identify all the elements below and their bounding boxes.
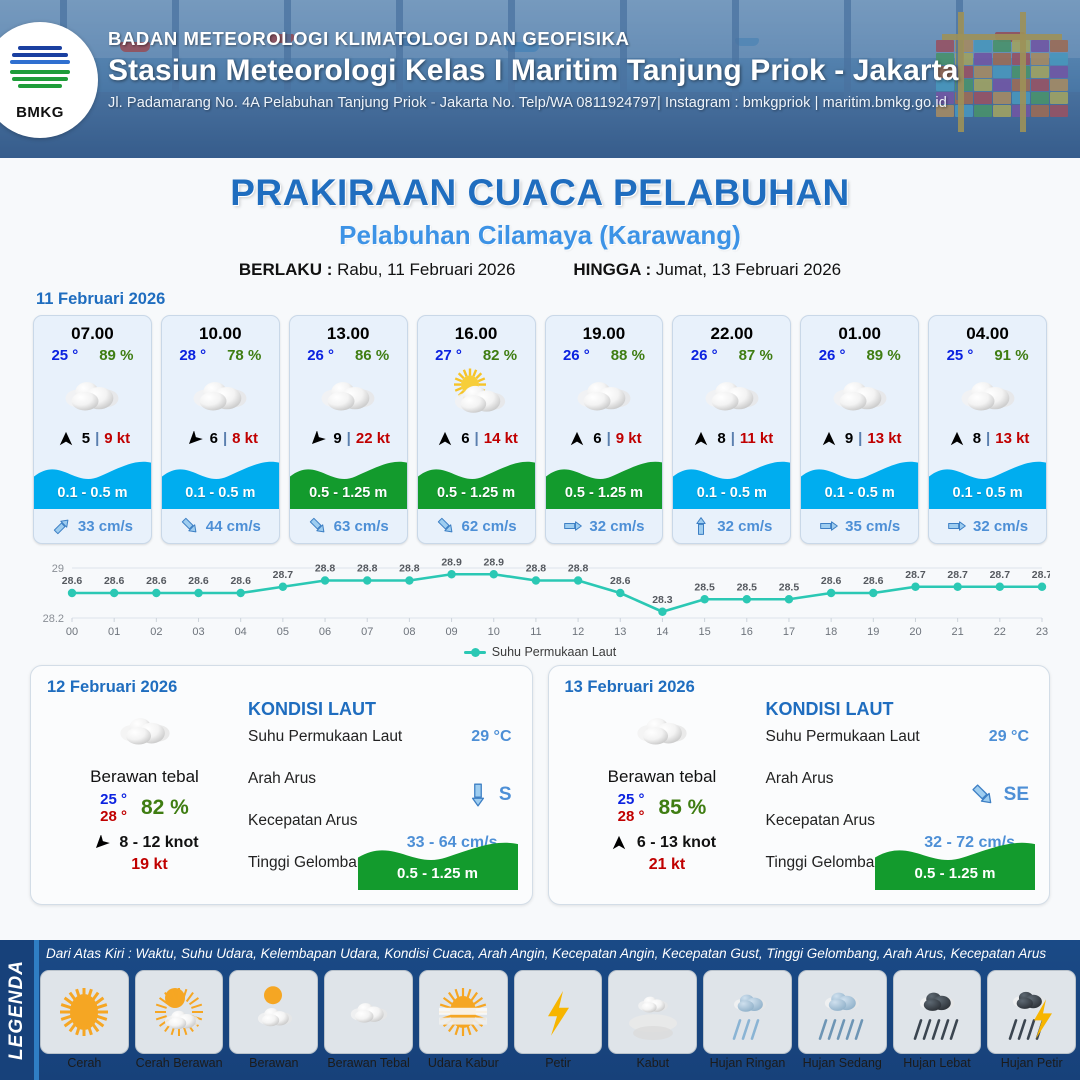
hingga-value: Jumat, 13 Februari 2026	[656, 260, 841, 279]
current-direction-icon	[465, 782, 491, 808]
summary-wave-graphic: 0.5 - 1.25 m	[358, 834, 518, 890]
daily-summary-card: 12 Februari 2026 Berawan tebal 25 ° 28 °…	[30, 665, 533, 905]
card-weather-icon	[162, 364, 279, 426]
berlaku-value: Rabu, 11 Februari 2026	[337, 260, 515, 279]
svg-text:12: 12	[572, 626, 584, 638]
card-current-speed: 33 cm/s	[78, 518, 133, 535]
summary-temp-max: 28 °	[100, 808, 127, 825]
current-direction-label: Arah Arus	[248, 770, 316, 788]
cloud-icon	[563, 366, 645, 424]
bmkg-logo-text: BMKG	[16, 104, 64, 121]
sst-row: Suhu Permukaan Laut 29 °C	[248, 724, 516, 766]
svg-text:28.5: 28.5	[694, 581, 715, 593]
card-gust: 22 kt	[356, 430, 390, 447]
card-time: 16.00	[418, 316, 535, 344]
card-current-speed: 32 cm/s	[717, 518, 772, 535]
sst-label: Suhu Permukaan Laut	[248, 728, 402, 746]
card-gust: 8 kt	[232, 430, 258, 447]
card-temp-hum: 25 ° 89 %	[34, 344, 151, 364]
card-weather-icon	[801, 364, 918, 426]
card-wind-separator: |	[347, 430, 351, 447]
card-time: 13.00	[290, 316, 407, 344]
card-wave-label: 0.1 - 0.5 m	[34, 485, 151, 501]
card-wind: 9 | 22 kt	[290, 426, 407, 453]
card-temp-hum: 26 ° 87 %	[673, 344, 790, 364]
svg-text:16: 16	[741, 626, 753, 638]
sst-value: 29 °C	[989, 728, 1029, 746]
wind-direction-icon	[946, 431, 968, 447]
card-wave: 0.5 - 1.25 m	[290, 453, 407, 509]
summary-date: 13 Februari 2026	[565, 678, 1034, 697]
card-temperature: 26 °	[563, 347, 590, 364]
card-wave-label: 0.5 - 1.25 m	[290, 485, 407, 501]
cloud-icon	[106, 703, 184, 757]
legend-item-label: Hujan Petir	[987, 1056, 1076, 1070]
legend-item	[135, 970, 224, 1054]
card-humidity: 78 %	[227, 347, 261, 364]
legend-item-label: Hujan Sedang	[798, 1056, 887, 1070]
card-current: 44 cm/s	[162, 509, 279, 543]
chart-legend: Suhu Permukaan Laut	[0, 645, 1080, 659]
summary-humidity: 82 %	[141, 796, 189, 820]
wind-direction-icon	[434, 431, 456, 447]
card-wave: 0.1 - 0.5 m	[34, 453, 151, 509]
current-direction-icon	[308, 516, 328, 536]
current-direction-icon	[947, 516, 967, 536]
cloud-icon	[51, 366, 133, 424]
legend-item	[703, 970, 792, 1054]
svg-text:28.6: 28.6	[188, 575, 209, 587]
card-humidity: 91 %	[994, 347, 1028, 364]
svg-text:28.6: 28.6	[610, 575, 631, 587]
current-direction-icon	[691, 516, 711, 536]
light-rain-icon	[717, 977, 779, 1047]
card-current-speed: 44 cm/s	[206, 518, 261, 535]
wind-direction-icon	[306, 431, 328, 447]
card-wave-label: 0.1 - 0.5 m	[673, 485, 790, 501]
wave-label: Tinggi Gelombang	[248, 854, 374, 872]
sun-cloud-icon	[435, 366, 517, 424]
fog-icon	[622, 977, 684, 1047]
svg-text:28.7: 28.7	[1032, 569, 1050, 581]
card-current: 32 cm/s	[929, 509, 1046, 543]
card-time: 01.00	[801, 316, 918, 344]
svg-text:28.7: 28.7	[947, 569, 968, 581]
card-wind-separator: |	[223, 430, 227, 447]
sun-cloud-icon	[148, 977, 210, 1047]
card-time: 22.00	[673, 316, 790, 344]
cloud-icon	[819, 366, 901, 424]
card-gust: 13 kt	[867, 430, 901, 447]
legend-item	[987, 970, 1076, 1054]
svg-text:08: 08	[403, 626, 415, 638]
card-temp-hum: 25 ° 91 %	[929, 344, 1046, 364]
card-wind: 8 | 13 kt	[929, 426, 1046, 453]
cloud-icon	[947, 366, 1029, 424]
heavy-rain-icon	[906, 977, 968, 1047]
card-current: 32 cm/s	[546, 509, 663, 543]
card-time: 10.00	[162, 316, 279, 344]
card-temperature: 27 °	[435, 347, 462, 364]
card-current: 32 cm/s	[673, 509, 790, 543]
wind-direction-icon	[566, 431, 588, 447]
svg-text:18: 18	[825, 626, 837, 638]
current-direction-icon	[563, 516, 583, 536]
card-wind-speed: 9	[333, 430, 341, 447]
legend-item	[40, 970, 129, 1054]
card-current-speed: 32 cm/s	[589, 518, 644, 535]
svg-text:15: 15	[698, 626, 710, 638]
svg-text:28.6: 28.6	[104, 575, 125, 587]
current-direction-label: Arah Arus	[766, 770, 834, 788]
card-wind-speed: 8	[717, 430, 725, 447]
legend-item	[893, 970, 982, 1054]
svg-text:28.3: 28.3	[652, 594, 673, 606]
sea-heading: KONDISI LAUT	[766, 699, 1034, 720]
legend-item-label: Hujan Lebat	[893, 1056, 982, 1070]
card-wind-separator: |	[475, 430, 479, 447]
station-name: Stasiun Meteorologi Kelas I Maritim Tanj…	[108, 54, 1068, 88]
legend-side-title-text: LEGENDA	[6, 960, 28, 1060]
card-gust: 13 kt	[995, 430, 1029, 447]
current-direction-icon	[819, 516, 839, 536]
sea-heading: KONDISI LAUT	[248, 699, 516, 720]
cloud-icon	[179, 366, 261, 424]
cloud-icon	[338, 977, 400, 1047]
current-direction-icon	[970, 782, 996, 808]
legend-item-label: Cerah Berawan	[135, 1056, 224, 1070]
forecast-card: 07.00 25 ° 89 % 5 | 9 kt 0.1 - 0.5 m	[33, 315, 152, 544]
svg-text:04: 04	[235, 626, 247, 638]
current-direction-row: Arah Arus S	[248, 766, 516, 808]
current-direction-row: Arah Arus SE	[766, 766, 1034, 808]
svg-text:28.9: 28.9	[441, 556, 462, 568]
svg-text:28.6: 28.6	[62, 575, 83, 587]
wind-direction-icon	[690, 431, 712, 447]
legend-label-row: CerahCerah BerawanBerawanBerawan TebalUd…	[40, 1056, 1076, 1070]
card-current: 33 cm/s	[34, 509, 151, 543]
forecast-card: 19.00 26 ° 88 % 6 | 9 kt 0.5 - 1.25 m	[545, 315, 664, 544]
card-wave-label: 0.5 - 1.25 m	[546, 485, 663, 501]
svg-text:11: 11	[530, 626, 541, 638]
card-wind: 8 | 11 kt	[673, 426, 790, 453]
card-weather-icon	[673, 364, 790, 426]
wind-direction-icon	[608, 835, 630, 851]
card-wave: 0.1 - 0.5 m	[162, 453, 279, 509]
moderate-rain-icon	[811, 977, 873, 1047]
card-current-speed: 32 cm/s	[973, 518, 1028, 535]
berlaku-group: BERLAKU : Rabu, 11 Februari 2026	[239, 260, 516, 280]
cloud-icon	[691, 366, 773, 424]
svg-text:28.7: 28.7	[273, 569, 294, 581]
legend-bar: LEGENDA Dari Atas Kiri : Waktu, Suhu Uda…	[0, 940, 1080, 1080]
card-temp-hum: 26 ° 88 %	[546, 344, 663, 364]
legend-item-label: Hujan Ringan	[703, 1056, 792, 1070]
legend-item	[229, 970, 318, 1054]
card-temperature: 26 °	[691, 347, 718, 364]
legend-accent-stripe	[34, 940, 39, 1080]
legend-item-label: Udara Kabur	[419, 1056, 508, 1070]
svg-text:28.6: 28.6	[230, 575, 251, 587]
svg-text:28.6: 28.6	[146, 575, 167, 587]
card-humidity: 88 %	[611, 347, 645, 364]
card-wave: 0.1 - 0.5 m	[801, 453, 918, 509]
card-wind-separator: |	[858, 430, 862, 447]
legend-item-label: Petir	[514, 1056, 603, 1070]
card-temp-hum: 26 ° 86 %	[290, 344, 407, 364]
agency-name: BADAN METEOROLOGI KLIMATOLOGI DAN GEOFIS…	[108, 28, 1068, 50]
wave-label: Tinggi Gelombang	[766, 854, 892, 872]
svg-text:28.5: 28.5	[779, 581, 800, 593]
card-wind: 6 | 9 kt	[546, 426, 663, 453]
forecast-day-label: 11 Februari 2026	[36, 290, 1080, 309]
card-gust: 14 kt	[484, 430, 518, 447]
sst-value: 29 °C	[471, 728, 511, 746]
card-wave: 0.1 - 0.5 m	[929, 453, 1046, 509]
hingga-group: HINGGA : Jumat, 13 Februari 2026	[573, 260, 841, 280]
card-temp-hum: 26 ° 89 %	[801, 344, 918, 364]
summary-wave-value: 0.5 - 1.25 m	[358, 865, 518, 882]
svg-text:10: 10	[488, 626, 500, 638]
card-temp-hum: 28 ° 78 %	[162, 344, 279, 364]
card-temp-hum: 27 ° 82 %	[418, 344, 535, 364]
svg-text:29: 29	[52, 563, 64, 575]
legend-item	[419, 970, 508, 1054]
card-wind: 9 | 13 kt	[801, 426, 918, 453]
legend-item-label: Cerah	[40, 1056, 129, 1070]
thunderstorm-icon	[1001, 977, 1063, 1047]
bmkg-logo-mark	[9, 40, 71, 102]
card-weather-icon	[290, 364, 407, 426]
header-text-block: BADAN METEOROLOGI KLIMATOLOGI DAN GEOFIS…	[108, 28, 1068, 111]
chart-legend-marker	[464, 651, 486, 654]
summary-temp-hum: 25 ° 28 ° 85 %	[565, 791, 760, 826]
card-wind-speed: 6	[593, 430, 601, 447]
daily-summary-row: 12 Februari 2026 Berawan tebal 25 ° 28 °…	[0, 659, 1080, 905]
legend-item	[514, 970, 603, 1054]
summary-gust: 19 kt	[47, 856, 242, 874]
svg-text:21: 21	[952, 626, 964, 638]
current-direction-value: SE	[1004, 784, 1029, 806]
forecast-card: 13.00 26 ° 86 % 9 | 22 kt 0.5 - 1.25 m	[289, 315, 408, 544]
current-direction-icon	[180, 516, 200, 536]
card-wind: 6 | 14 kt	[418, 426, 535, 453]
card-current: 62 cm/s	[418, 509, 535, 543]
card-time: 07.00	[34, 316, 151, 344]
current-direction-icon	[436, 516, 456, 536]
svg-text:19: 19	[867, 626, 879, 638]
legend-item-label: Kabut	[608, 1056, 697, 1070]
summary-wind-text: 6 - 13 knot	[637, 834, 716, 852]
svg-text:06: 06	[319, 626, 331, 638]
berlaku-label: BERLAKU :	[239, 260, 333, 279]
sst-row: Suhu Permukaan Laut 29 °C	[766, 724, 1034, 766]
summary-condition: Berawan tebal	[47, 767, 242, 787]
daily-summary-card: 13 Februari 2026 Berawan tebal 25 ° 28 °…	[548, 665, 1051, 905]
port-name: Pelabuhan Cilamaya (Karawang)	[0, 220, 1080, 251]
svg-text:28.8: 28.8	[568, 563, 589, 575]
summary-left: Berawan tebal 25 ° 28 ° 85 % 6 - 13 knot	[565, 699, 760, 892]
svg-text:05: 05	[277, 626, 289, 638]
card-current: 63 cm/s	[290, 509, 407, 543]
card-temperature: 25 °	[947, 347, 974, 364]
card-current-speed: 35 cm/s	[845, 518, 900, 535]
svg-text:28.6: 28.6	[821, 575, 842, 587]
legend-icon-row	[40, 970, 1076, 1054]
card-wind-separator: |	[95, 430, 99, 447]
svg-text:17: 17	[783, 626, 795, 638]
legend-item	[324, 970, 413, 1054]
card-humidity: 87 %	[739, 347, 773, 364]
svg-text:23: 23	[1036, 626, 1048, 638]
svg-text:00: 00	[66, 626, 78, 638]
card-weather-icon	[929, 364, 1046, 426]
svg-text:28.7: 28.7	[990, 569, 1011, 581]
cloud-sun-icon	[243, 977, 305, 1047]
svg-text:28.8: 28.8	[357, 563, 378, 575]
sst-label: Suhu Permukaan Laut	[766, 728, 920, 746]
card-current-speed: 63 cm/s	[334, 518, 389, 535]
svg-text:28.5: 28.5	[737, 581, 758, 593]
summary-gust: 21 kt	[565, 856, 760, 874]
summary-temp-max: 28 °	[618, 808, 645, 825]
card-weather-icon	[34, 364, 151, 426]
cloud-icon	[307, 366, 389, 424]
legend-item	[798, 970, 887, 1054]
card-wind-speed: 5	[82, 430, 90, 447]
card-wind-separator: |	[731, 430, 735, 447]
legend-item-label: Berawan	[229, 1056, 318, 1070]
summary-wind: 6 - 13 knot	[565, 834, 760, 852]
wind-direction-icon	[818, 431, 840, 447]
card-humidity: 86 %	[355, 347, 389, 364]
card-time: 04.00	[929, 316, 1046, 344]
card-wind-speed: 8	[973, 430, 981, 447]
svg-text:13: 13	[614, 626, 626, 638]
page-header: BMKG BADAN METEOROLOGI KLIMATOLOGI DAN G…	[0, 0, 1080, 158]
card-weather-icon	[418, 364, 535, 426]
legend-item	[608, 970, 697, 1054]
card-wave-label: 0.1 - 0.5 m	[162, 485, 279, 501]
card-current-speed: 62 cm/s	[462, 518, 517, 535]
summary-date: 12 Februari 2026	[47, 678, 516, 697]
summary-weather-icon	[565, 701, 760, 759]
summary-wave-value: 0.5 - 1.25 m	[875, 865, 1035, 882]
svg-text:28.8: 28.8	[399, 563, 420, 575]
svg-text:09: 09	[445, 626, 457, 638]
summary-wind-text: 8 - 12 knot	[119, 834, 198, 852]
current-speed-label: Kecepatan Arus	[248, 812, 357, 830]
summary-condition: Berawan tebal	[565, 767, 760, 787]
forecast-card: 22.00 26 ° 87 % 8 | 11 kt 0.1 - 0.5 m	[672, 315, 791, 544]
svg-text:28.8: 28.8	[526, 563, 547, 575]
svg-text:07: 07	[361, 626, 373, 638]
sun-icon	[53, 977, 115, 1047]
card-wind-separator: |	[986, 430, 990, 447]
current-direction-value: S	[499, 784, 512, 806]
card-humidity: 82 %	[483, 347, 517, 364]
summary-left: Berawan tebal 25 ° 28 ° 82 % 8 - 12 knot	[47, 699, 242, 892]
svg-text:14: 14	[656, 626, 668, 638]
validity-dates: BERLAKU : Rabu, 11 Februari 2026 HINGGA …	[0, 260, 1080, 280]
svg-text:28.8: 28.8	[315, 563, 336, 575]
card-current: 35 cm/s	[801, 509, 918, 543]
forecast-card: 01.00 26 ° 89 % 9 | 13 kt 0.1 - 0.5 m	[800, 315, 919, 544]
card-temperature: 28 °	[179, 347, 206, 364]
forecast-card: 10.00 28 ° 78 % 6 | 8 kt 0.1 - 0.5 m	[161, 315, 280, 544]
hingga-label: HINGGA :	[573, 260, 651, 279]
chart-legend-label: Suhu Permukaan Laut	[492, 645, 616, 659]
card-temperature: 26 °	[819, 347, 846, 364]
svg-text:28.9: 28.9	[484, 556, 505, 568]
card-humidity: 89 %	[866, 347, 900, 364]
card-temperature: 25 °	[51, 347, 78, 364]
card-wind-speed: 6	[210, 430, 218, 447]
card-wave-label: 0.1 - 0.5 m	[801, 485, 918, 501]
card-gust: 11 kt	[740, 430, 773, 447]
summary-temp-hum: 25 ° 28 ° 82 %	[47, 791, 242, 826]
summary-humidity: 85 %	[658, 796, 706, 820]
card-wave: 0.5 - 1.25 m	[418, 453, 535, 509]
svg-text:02: 02	[150, 626, 162, 638]
cloud-icon	[623, 703, 701, 757]
card-wave-label: 0.1 - 0.5 m	[929, 485, 1046, 501]
summary-weather-icon	[47, 701, 242, 759]
summary-wind: 8 - 12 knot	[47, 834, 242, 852]
hourly-forecast-row: 07.00 25 ° 89 % 5 | 9 kt 0.1 - 0.5 m	[0, 315, 1080, 544]
lightning-icon	[527, 977, 589, 1047]
card-humidity: 89 %	[99, 347, 133, 364]
card-time: 19.00	[546, 316, 663, 344]
title-block: PRAKIRAAN CUACA PELABUHAN Pelabuhan Cila…	[0, 158, 1080, 280]
legend-item-label: Berawan Tebal	[324, 1056, 413, 1070]
current-direction-icon	[52, 516, 72, 536]
card-temperature: 26 °	[307, 347, 334, 364]
summary-wave-graphic: 0.5 - 1.25 m	[875, 834, 1035, 890]
svg-text:28.7: 28.7	[905, 569, 926, 581]
card-wave: 0.1 - 0.5 m	[673, 453, 790, 509]
card-wind: 6 | 8 kt	[162, 426, 279, 453]
card-gust: 9 kt	[616, 430, 642, 447]
card-wave-label: 0.5 - 1.25 m	[418, 485, 535, 501]
contact-line: Jl. Padamarang No. 4A Pelabuhan Tanjung …	[108, 95, 1068, 111]
svg-text:03: 03	[192, 626, 204, 638]
card-wind: 5 | 9 kt	[34, 426, 151, 453]
svg-text:28.2: 28.2	[43, 613, 64, 625]
page-title: PRAKIRAAN CUACA PELABUHAN	[0, 172, 1080, 214]
svg-text:28.6: 28.6	[863, 575, 884, 587]
sst-chart: 2928.20001020304050607080910111213141516…	[30, 552, 1050, 644]
card-wind-speed: 9	[845, 430, 853, 447]
legend-note: Dari Atas Kiri : Waktu, Suhu Udara, Kele…	[46, 946, 1046, 961]
card-gust: 9 kt	[104, 430, 130, 447]
wind-direction-icon	[55, 431, 77, 447]
svg-text:20: 20	[909, 626, 921, 638]
haze-icon	[432, 977, 494, 1047]
summary-temp-min: 25 °	[100, 791, 127, 808]
legend-side-title: LEGENDA	[0, 940, 34, 1080]
forecast-card: 16.00 27 ° 82 % 6 | 14 kt 0.5 - 1.25 m	[417, 315, 536, 544]
wind-direction-icon	[183, 431, 205, 447]
svg-text:01: 01	[108, 626, 120, 638]
card-weather-icon	[546, 364, 663, 426]
summary-temp-min: 25 °	[618, 791, 645, 808]
wind-direction-icon	[90, 835, 112, 851]
card-wind-speed: 6	[461, 430, 469, 447]
current-speed-label: Kecepatan Arus	[766, 812, 875, 830]
card-wind-separator: |	[607, 430, 611, 447]
forecast-card: 04.00 25 ° 91 % 8 | 13 kt 0.1 - 0.5 m	[928, 315, 1047, 544]
